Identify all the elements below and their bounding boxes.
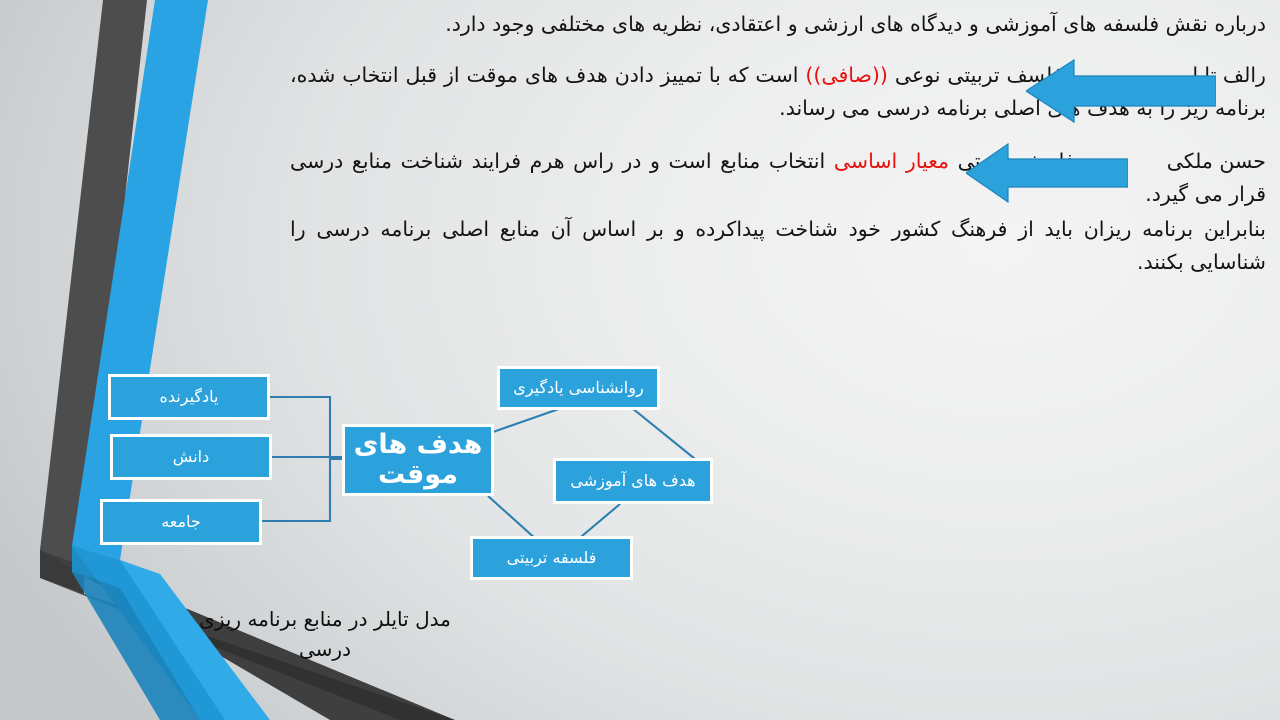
edge-psychology-edugoals bbox=[632, 408, 700, 463]
node-learning-psychology-label: روانشناسی یادگیری bbox=[513, 379, 643, 397]
node-interim-goals-label: هدف های موقت bbox=[345, 430, 491, 490]
node-learner-label: یادگیرنده bbox=[160, 388, 219, 406]
diagram-caption: مدل تایلر در منابع برنامه ریزی درسی bbox=[180, 604, 470, 664]
node-learner[interactable]: یادگیرنده bbox=[108, 374, 270, 420]
node-educational-goals-label: هدف های آموزشی bbox=[570, 472, 695, 490]
node-society-label: جامعه bbox=[161, 513, 201, 531]
node-educational-goals[interactable]: هدف های آموزشی bbox=[553, 458, 713, 504]
tyler-model-diagram: یادگیرنده دانش جامعه هدف های موقت روانشن… bbox=[0, 0, 1280, 720]
node-knowledge-label: دانش bbox=[173, 448, 209, 466]
edge-society-center bbox=[262, 459, 330, 521]
node-knowledge[interactable]: دانش bbox=[110, 434, 272, 480]
edge-learner-center bbox=[270, 397, 330, 459]
node-educational-philosophy-label: فلسفه تربیتی bbox=[507, 549, 597, 567]
node-learning-psychology[interactable]: روانشناسی یادگیری bbox=[497, 366, 660, 410]
node-interim-goals[interactable]: هدف های موقت bbox=[342, 424, 494, 496]
node-educational-philosophy[interactable]: فلسفه تربیتی bbox=[470, 536, 633, 580]
slide-canvas: درباره نقش فلسفه های آموزشی و دیدگاه های… bbox=[0, 0, 1280, 720]
node-society[interactable]: جامعه bbox=[100, 499, 262, 545]
